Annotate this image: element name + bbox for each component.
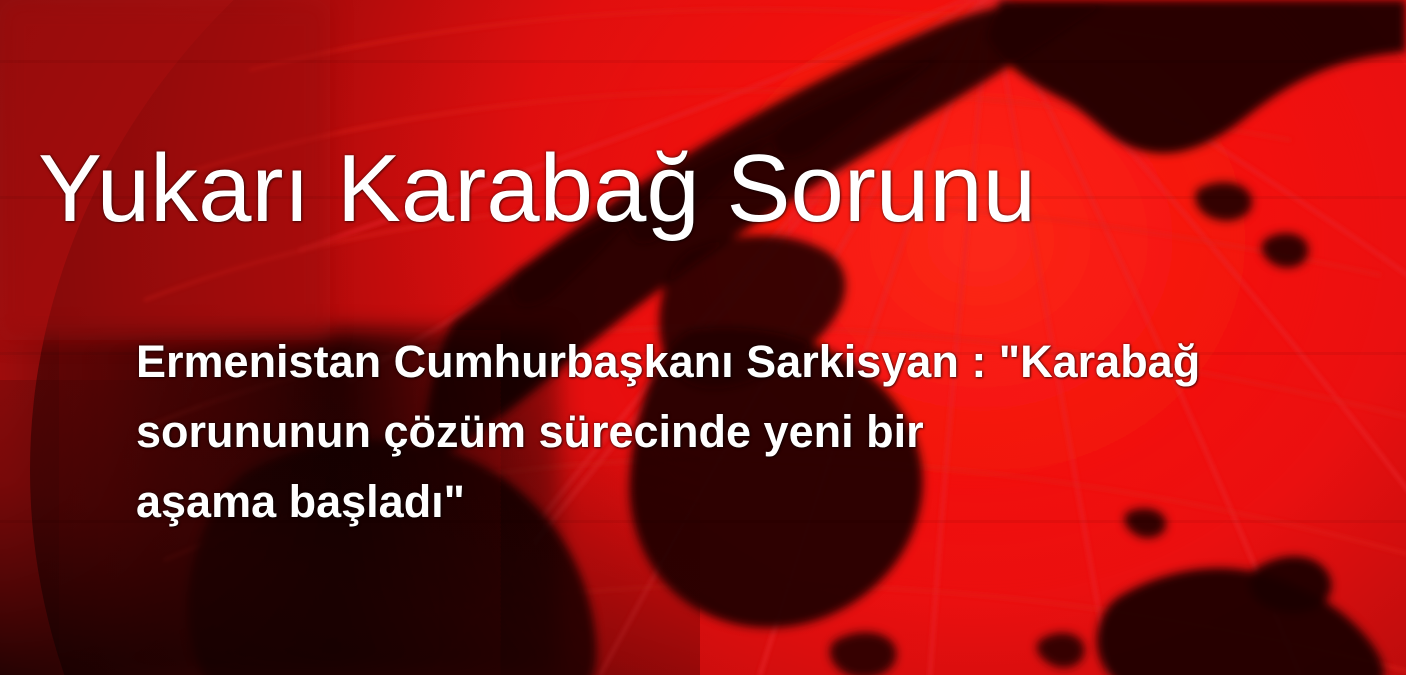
globe-graphic [0,0,1406,675]
corner-shadow [0,380,700,675]
left-deep-red-wash [0,0,330,340]
news-thumbnail-card: Yukarı Karabağ Sorunu Ermenistan Cumhurb… [0,0,1406,675]
